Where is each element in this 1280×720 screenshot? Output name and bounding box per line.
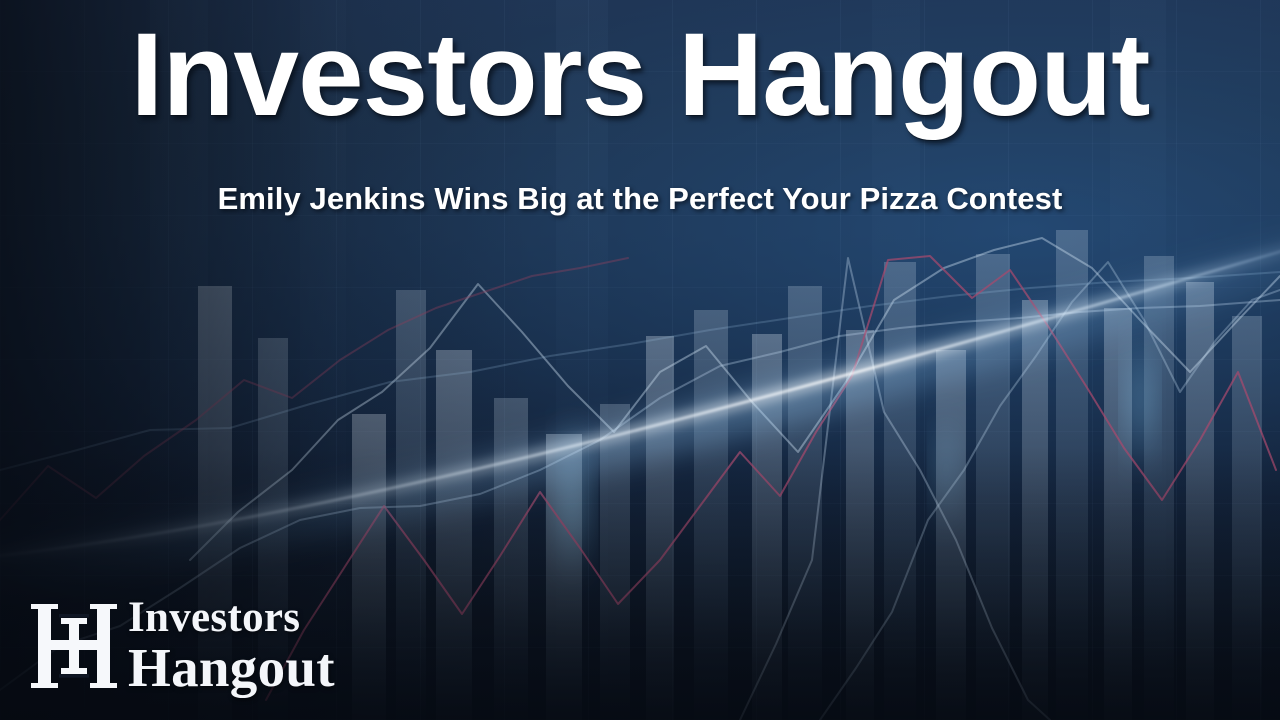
article-subtitle: Emily Jenkins Wins Big at the Perfect Yo…	[0, 181, 1280, 217]
ih-monogram-icon	[28, 594, 120, 698]
logo-line-2: Hangout	[128, 641, 335, 695]
banner-image: Investors Hangout Emily Jenkins Wins Big…	[0, 0, 1280, 720]
site-logo[interactable]: Investors Hangout	[28, 594, 335, 698]
logo-wordmark: Investors Hangout	[128, 597, 335, 695]
page-title: Investors Hangout	[0, 14, 1280, 138]
logo-line-1: Investors	[128, 597, 335, 639]
